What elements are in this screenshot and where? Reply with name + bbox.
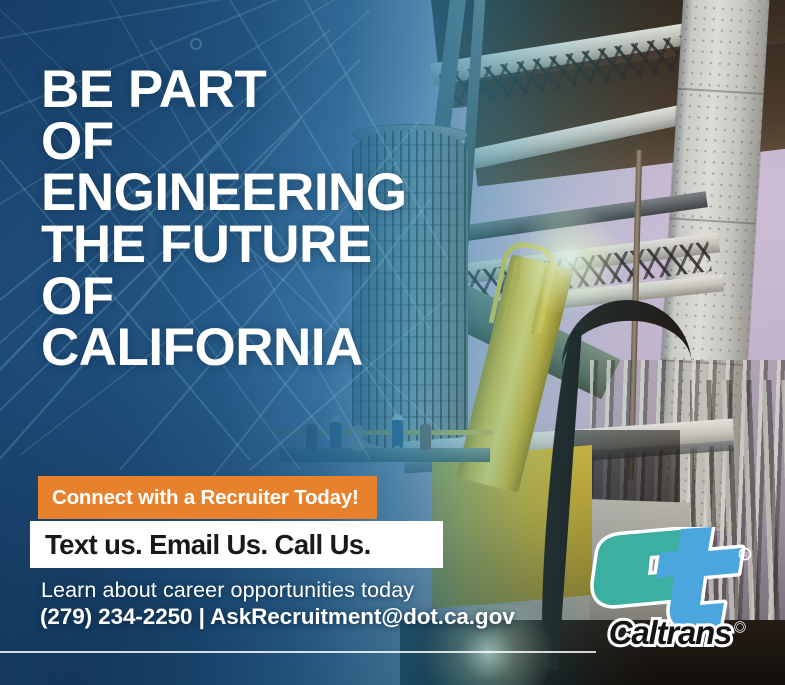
page-title: BE PART OF ENGINEERING THE FUTURE OF CAL… (41, 64, 407, 374)
caltrans-logo: R Caltrans (586, 527, 756, 649)
caltrans-recruitment-ad: BE PART OF ENGINEERING THE FUTURE OF CAL… (0, 0, 785, 685)
caltrans-logo-svg: R Caltrans (586, 527, 756, 649)
contact-methods-banner: Text us. Email Us. Call Us. (30, 521, 443, 568)
registered-mark-letter: R (742, 552, 747, 559)
contact-details[interactable]: (279) 234-2250 | AskRecruitment@dot.ca.g… (40, 604, 515, 630)
recruiter-banner: Connect with a Recruiter Today! (38, 476, 377, 519)
bottom-divider (0, 651, 596, 653)
caltrans-wordmark: Caltrans (609, 614, 732, 649)
recruiter-banner-label: Connect with a Recruiter Today! (52, 486, 359, 510)
caltrans-wordmark-text: Caltrans (609, 614, 732, 649)
ct-monogram (594, 527, 742, 628)
contact-methods-label: Text us. Email Us. Call Us. (45, 529, 371, 561)
learn-more-text: Learn about career opportunities today (41, 578, 414, 603)
